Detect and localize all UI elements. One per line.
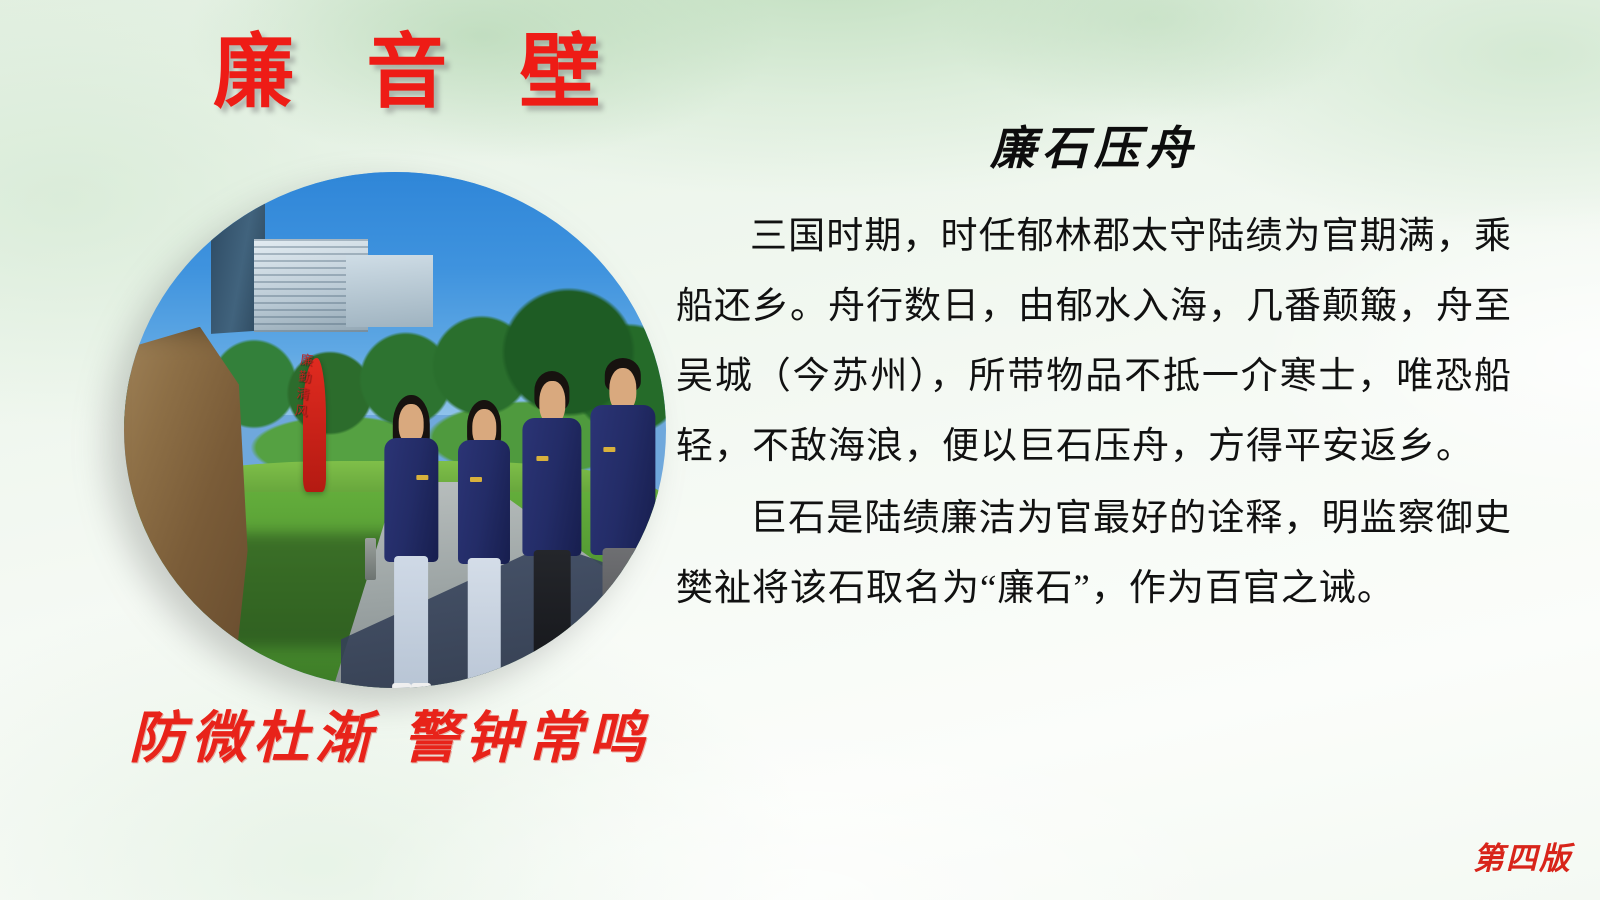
uniform-top — [458, 440, 510, 565]
slogan-text: 防微杜渐 警钟常鸣 — [129, 710, 651, 766]
edition-label: 第四版 — [1473, 833, 1572, 878]
newsletter-page: 廉 音 壁 廉勤清风 — [0, 0, 1600, 900]
uniform-top — [385, 438, 438, 562]
person-figure — [585, 358, 661, 688]
photo-figure: 廉勤清风 — [124, 172, 666, 688]
uniform-top — [523, 418, 582, 557]
trousers — [394, 556, 428, 688]
circular-photo: 廉勤清风 — [124, 172, 666, 688]
article-paragraph: 三国时期，时任郁林郡太守陆绩为官期满，乘船还乡。舟行数日，由郁水入海，几番颠簸，… — [676, 202, 1512, 482]
article-body: 三国时期，时任郁林郡太守陆绩为官期满，乘船还乡。舟行数日，由郁水入海，几番颠簸，… — [676, 202, 1512, 624]
shoe — [552, 686, 574, 688]
badge-icon — [603, 447, 615, 452]
path-bollard — [365, 538, 376, 579]
person-figure — [517, 368, 587, 688]
badge-icon — [470, 477, 482, 482]
shoe — [530, 686, 552, 688]
person-figure — [379, 389, 444, 688]
article: 廉石压舟 三国时期，时任郁林郡太守陆绩为官期满，乘船还乡。舟行数日，由郁水入海，… — [676, 112, 1512, 624]
badge-icon — [537, 456, 549, 461]
uniform-top — [590, 405, 655, 555]
shoe — [465, 683, 485, 688]
shoe — [411, 683, 431, 688]
trousers — [468, 558, 501, 688]
trousers — [534, 550, 571, 688]
article-paragraph: 巨石是陆绩廉洁为官最好的诠释，明监察御史樊祉将该石取名为“廉石”，作为百官之诫。 — [676, 484, 1512, 624]
person-figure — [452, 394, 517, 688]
stone-inscription-text: 廉勤清风 — [171, 342, 315, 601]
badge-icon — [417, 475, 429, 480]
trousers — [602, 548, 643, 688]
article-title: 廉石压舟 — [676, 112, 1512, 178]
page-title: 廉 音 壁 — [213, 33, 622, 114]
shoe — [484, 683, 504, 688]
shoe — [392, 683, 412, 688]
